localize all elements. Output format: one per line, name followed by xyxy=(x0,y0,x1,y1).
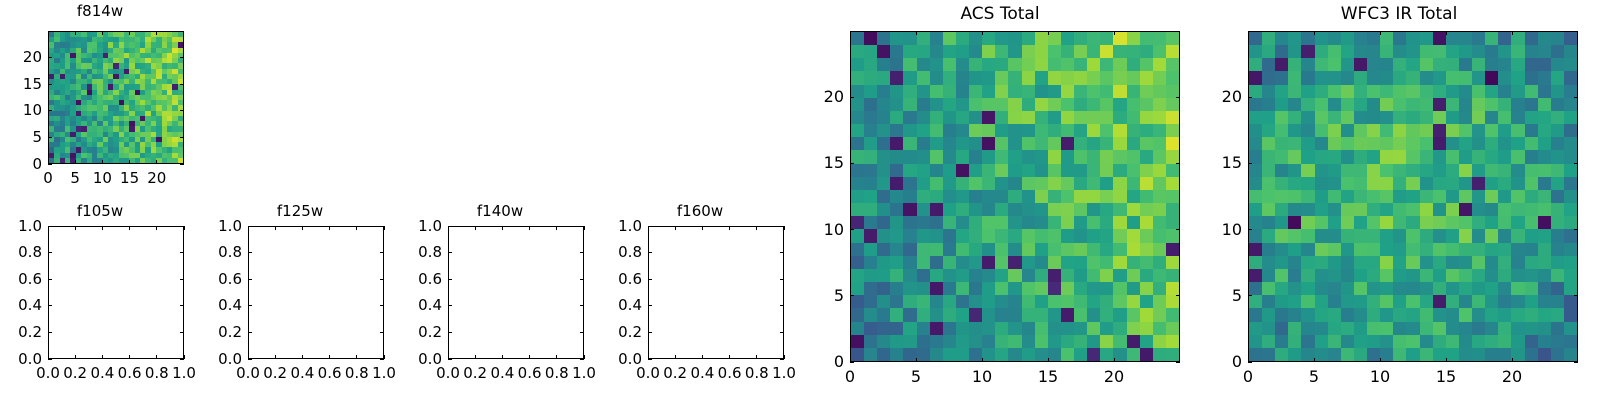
tick-mark xyxy=(48,84,52,85)
tick-mark xyxy=(648,359,652,360)
tick-mark xyxy=(448,279,452,280)
tick-mark xyxy=(850,295,854,296)
tick-mark xyxy=(502,226,503,230)
y-tick-label: 15 xyxy=(764,155,844,171)
panel-title-wfc3-ir-total: WFC3 IR Total xyxy=(1198,6,1600,23)
tick-mark xyxy=(448,305,452,306)
tick-mark xyxy=(850,97,854,98)
tick-mark xyxy=(48,226,52,227)
tick-mark xyxy=(780,305,784,306)
tick-mark xyxy=(102,355,103,359)
tick-mark xyxy=(729,226,730,230)
y-tick-label: 0.8 xyxy=(0,245,42,260)
tick-mark xyxy=(1314,358,1315,362)
tick-mark xyxy=(48,359,52,360)
heatmap-wfc3-ir-total xyxy=(1249,32,1577,361)
y-tick-label: 15 xyxy=(1162,155,1242,171)
tick-mark xyxy=(48,164,52,165)
tick-mark xyxy=(448,332,452,333)
tick-mark xyxy=(1446,358,1447,362)
tick-mark xyxy=(180,84,184,85)
tick-mark xyxy=(1114,358,1115,362)
tick-mark xyxy=(448,252,452,253)
tick-mark xyxy=(48,226,49,230)
tick-mark xyxy=(156,160,157,164)
y-tick-label: 10 xyxy=(1162,222,1242,238)
y-tick-label: 0.4 xyxy=(0,298,42,313)
y-tick-label: 0.0 xyxy=(562,352,642,367)
y-tick-label: 0.2 xyxy=(562,325,642,340)
tick-mark xyxy=(1048,358,1049,362)
tick-mark xyxy=(248,252,252,253)
tick-mark xyxy=(129,31,130,35)
tick-mark xyxy=(1574,362,1578,363)
panel-f814w: f814w 05101520 05101520 xyxy=(0,0,200,190)
tick-mark xyxy=(648,355,649,359)
tick-mark xyxy=(648,279,652,280)
tick-mark xyxy=(75,31,76,35)
tick-mark xyxy=(1574,295,1578,296)
y-tick-label: 0.0 xyxy=(362,352,442,367)
y-tick-label: 5 xyxy=(0,130,42,145)
tick-mark xyxy=(982,358,983,362)
tick-mark xyxy=(156,355,157,359)
heatmap-acs-total xyxy=(851,32,1179,361)
panel-title-f814w: f814w xyxy=(0,4,200,19)
tick-mark xyxy=(916,31,917,35)
axes-acs-total xyxy=(850,31,1180,362)
y-tick-label: 0.2 xyxy=(362,325,442,340)
tick-mark xyxy=(475,355,476,359)
tick-mark xyxy=(329,226,330,230)
tick-mark xyxy=(356,226,357,230)
tick-mark xyxy=(1248,358,1249,362)
tick-mark xyxy=(1574,163,1578,164)
y-tick-label: 20 xyxy=(1162,89,1242,105)
tick-mark xyxy=(1248,163,1252,164)
tick-mark xyxy=(102,160,103,164)
tick-mark xyxy=(850,362,854,363)
y-tick-label: 15 xyxy=(0,77,42,92)
tick-mark xyxy=(248,226,252,227)
tick-mark xyxy=(48,279,52,280)
tick-mark xyxy=(556,355,557,359)
tick-mark xyxy=(702,226,703,230)
tick-mark xyxy=(302,226,303,230)
tick-mark xyxy=(780,279,784,280)
tick-mark xyxy=(275,355,276,359)
tick-mark xyxy=(48,305,52,306)
tick-mark xyxy=(48,31,49,35)
y-tick-label: 5 xyxy=(1162,288,1242,304)
tick-mark xyxy=(248,359,252,360)
tick-mark xyxy=(275,226,276,230)
x-tick-label: 20 xyxy=(117,171,197,186)
y-tick-label: 0.4 xyxy=(562,298,642,313)
tick-mark xyxy=(916,358,917,362)
y-tick-label: 0.6 xyxy=(562,272,642,287)
tick-mark xyxy=(780,332,784,333)
x-tick-label: 20 xyxy=(1472,369,1552,385)
tick-mark xyxy=(675,226,676,230)
tick-mark xyxy=(675,355,676,359)
tick-mark xyxy=(1248,362,1252,363)
y-tick-label: 1.0 xyxy=(0,219,42,234)
tick-mark xyxy=(729,355,730,359)
tick-mark xyxy=(1380,358,1381,362)
tick-mark xyxy=(1380,31,1381,35)
tick-mark xyxy=(156,226,157,230)
y-tick-label: 0.6 xyxy=(362,272,442,287)
tick-mark xyxy=(1314,31,1315,35)
y-tick-label: 0.2 xyxy=(162,325,242,340)
tick-mark xyxy=(1574,97,1578,98)
y-tick-label: 0.0 xyxy=(162,352,242,367)
tick-mark xyxy=(529,226,530,230)
y-tick-label: 10 xyxy=(764,222,844,238)
y-tick-label: 0 xyxy=(764,354,844,370)
tick-mark xyxy=(756,226,757,230)
y-tick-label: 0.4 xyxy=(162,298,242,313)
tick-mark xyxy=(1248,295,1252,296)
y-tick-label: 0.8 xyxy=(162,245,242,260)
heatmap-f814w xyxy=(49,32,183,163)
tick-mark xyxy=(180,110,184,111)
tick-mark xyxy=(1248,229,1252,230)
tick-mark xyxy=(129,160,130,164)
tick-mark xyxy=(248,226,249,230)
y-tick-label: 20 xyxy=(764,89,844,105)
y-tick-label: 0.2 xyxy=(0,325,42,340)
tick-mark xyxy=(1114,31,1115,35)
tick-mark xyxy=(702,355,703,359)
tick-mark xyxy=(180,164,184,165)
y-tick-label: 0.4 xyxy=(362,298,442,313)
y-tick-label: 1.0 xyxy=(562,219,642,234)
tick-mark xyxy=(448,226,449,230)
tick-mark xyxy=(248,305,252,306)
tick-mark xyxy=(556,226,557,230)
tick-mark xyxy=(448,359,452,360)
tick-mark xyxy=(75,355,76,359)
tick-mark xyxy=(1512,358,1513,362)
y-tick-label: 0.8 xyxy=(362,245,442,260)
y-tick-label: 0.6 xyxy=(162,272,242,287)
tick-mark xyxy=(156,31,157,35)
tick-mark xyxy=(448,355,449,359)
panel-wfc3-ir-total: WFC3 IR Total 05101520 05101520 xyxy=(1198,0,1600,400)
y-tick-label: 0.8 xyxy=(562,245,642,260)
panel-acs-total: ACS Total 05101520 05101520 xyxy=(800,0,1200,400)
tick-mark xyxy=(75,226,76,230)
y-tick-label: 1.0 xyxy=(162,219,242,234)
panel-title-acs-total: ACS Total xyxy=(800,6,1200,23)
tick-mark xyxy=(780,252,784,253)
tick-mark xyxy=(756,355,757,359)
tick-mark xyxy=(850,163,854,164)
tick-mark xyxy=(982,31,983,35)
tick-mark xyxy=(102,31,103,35)
tick-mark xyxy=(1248,97,1252,98)
y-tick-label: 0.6 xyxy=(0,272,42,287)
tick-mark xyxy=(648,305,652,306)
tick-mark xyxy=(248,332,252,333)
tick-mark xyxy=(448,226,452,227)
tick-mark xyxy=(248,279,252,280)
tick-mark xyxy=(48,252,52,253)
tick-mark xyxy=(1446,31,1447,35)
tick-mark xyxy=(75,160,76,164)
y-tick-label: 20 xyxy=(0,50,42,65)
tick-mark xyxy=(48,355,49,359)
tick-mark xyxy=(1248,31,1249,35)
tick-mark xyxy=(129,226,130,230)
y-tick-label: 0 xyxy=(0,157,42,172)
y-tick-label: 0 xyxy=(1162,354,1242,370)
tick-mark xyxy=(850,229,854,230)
tick-mark xyxy=(180,137,184,138)
tick-mark xyxy=(1512,31,1513,35)
tick-mark xyxy=(48,57,52,58)
tick-mark xyxy=(648,226,649,230)
tick-mark xyxy=(475,226,476,230)
tick-mark xyxy=(648,332,652,333)
tick-mark xyxy=(648,226,652,227)
tick-mark xyxy=(48,110,52,111)
tick-mark xyxy=(329,355,330,359)
tick-mark xyxy=(648,252,652,253)
tick-mark xyxy=(502,355,503,359)
y-tick-label: 10 xyxy=(0,103,42,118)
tick-mark xyxy=(102,226,103,230)
tick-mark xyxy=(356,355,357,359)
tick-mark xyxy=(48,160,49,164)
tick-mark xyxy=(302,355,303,359)
tick-mark xyxy=(248,355,249,359)
tick-mark xyxy=(850,358,851,362)
tick-mark xyxy=(1574,229,1578,230)
tick-mark xyxy=(529,355,530,359)
tick-mark xyxy=(48,137,52,138)
tick-mark xyxy=(129,355,130,359)
y-tick-label: 5 xyxy=(764,288,844,304)
tick-mark xyxy=(850,31,851,35)
axes-wfc3-ir-total xyxy=(1248,31,1578,362)
tick-mark xyxy=(1048,31,1049,35)
tick-mark xyxy=(48,332,52,333)
axes-f814w xyxy=(48,31,184,164)
x-tick-label: 20 xyxy=(1074,369,1154,385)
y-tick-label: 1.0 xyxy=(362,219,442,234)
tick-mark xyxy=(180,57,184,58)
